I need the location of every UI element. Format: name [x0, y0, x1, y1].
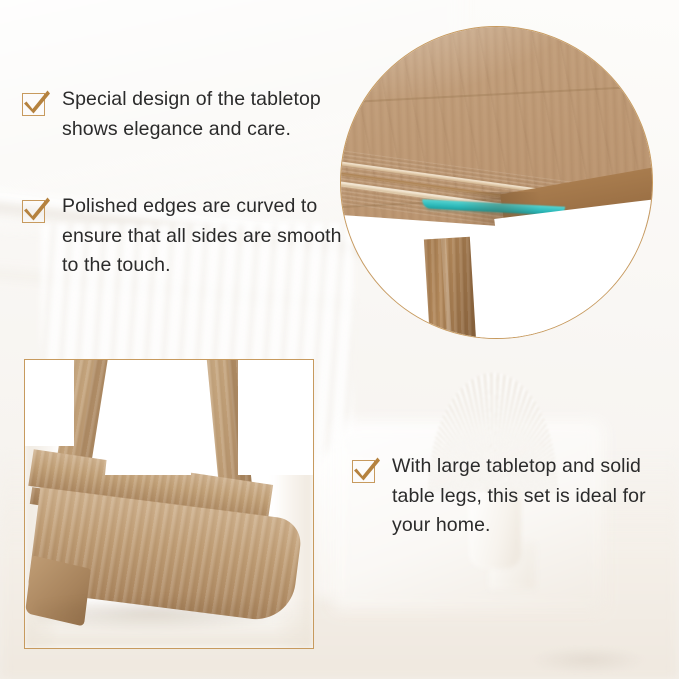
photo-gap-between-legs: [105, 360, 203, 475]
tabletop-corner-photo: [340, 26, 653, 339]
check-mark-icon: [351, 454, 383, 486]
tabletop-corner-photo-content: [341, 27, 652, 338]
checkbox-check-icon: [22, 197, 48, 223]
background-watermark-smudge: [533, 647, 643, 673]
photo-gap-right: [238, 360, 313, 475]
checkbox-check-icon: [22, 90, 48, 116]
check-mark-icon: [21, 87, 53, 119]
trestle-base-photo: [24, 359, 314, 649]
feature-item-1-label: Special design of the tabletop shows ele…: [62, 85, 321, 144]
table-leg: [424, 237, 478, 339]
feature-item-2-label: Polished edges are curved to ensure that…: [62, 192, 342, 281]
checkbox-check-icon: [352, 457, 378, 483]
photo-white-cutout-right: [494, 197, 653, 339]
trestle-base-photo-content: [25, 360, 313, 648]
photo-gap-left: [25, 360, 74, 446]
trestle-foot-shadow: [37, 596, 290, 631]
feature-item-3-label: With large tabletop and solid table legs…: [392, 452, 646, 541]
feature-item-3: With large tabletop and solid table legs…: [352, 452, 662, 541]
check-mark-icon: [21, 194, 53, 226]
infographic-canvas: Special design of the tabletop shows ele…: [0, 0, 679, 679]
feature-item-1: Special design of the tabletop shows ele…: [22, 85, 344, 144]
feature-item-2: Polished edges are curved to ensure that…: [22, 192, 347, 281]
